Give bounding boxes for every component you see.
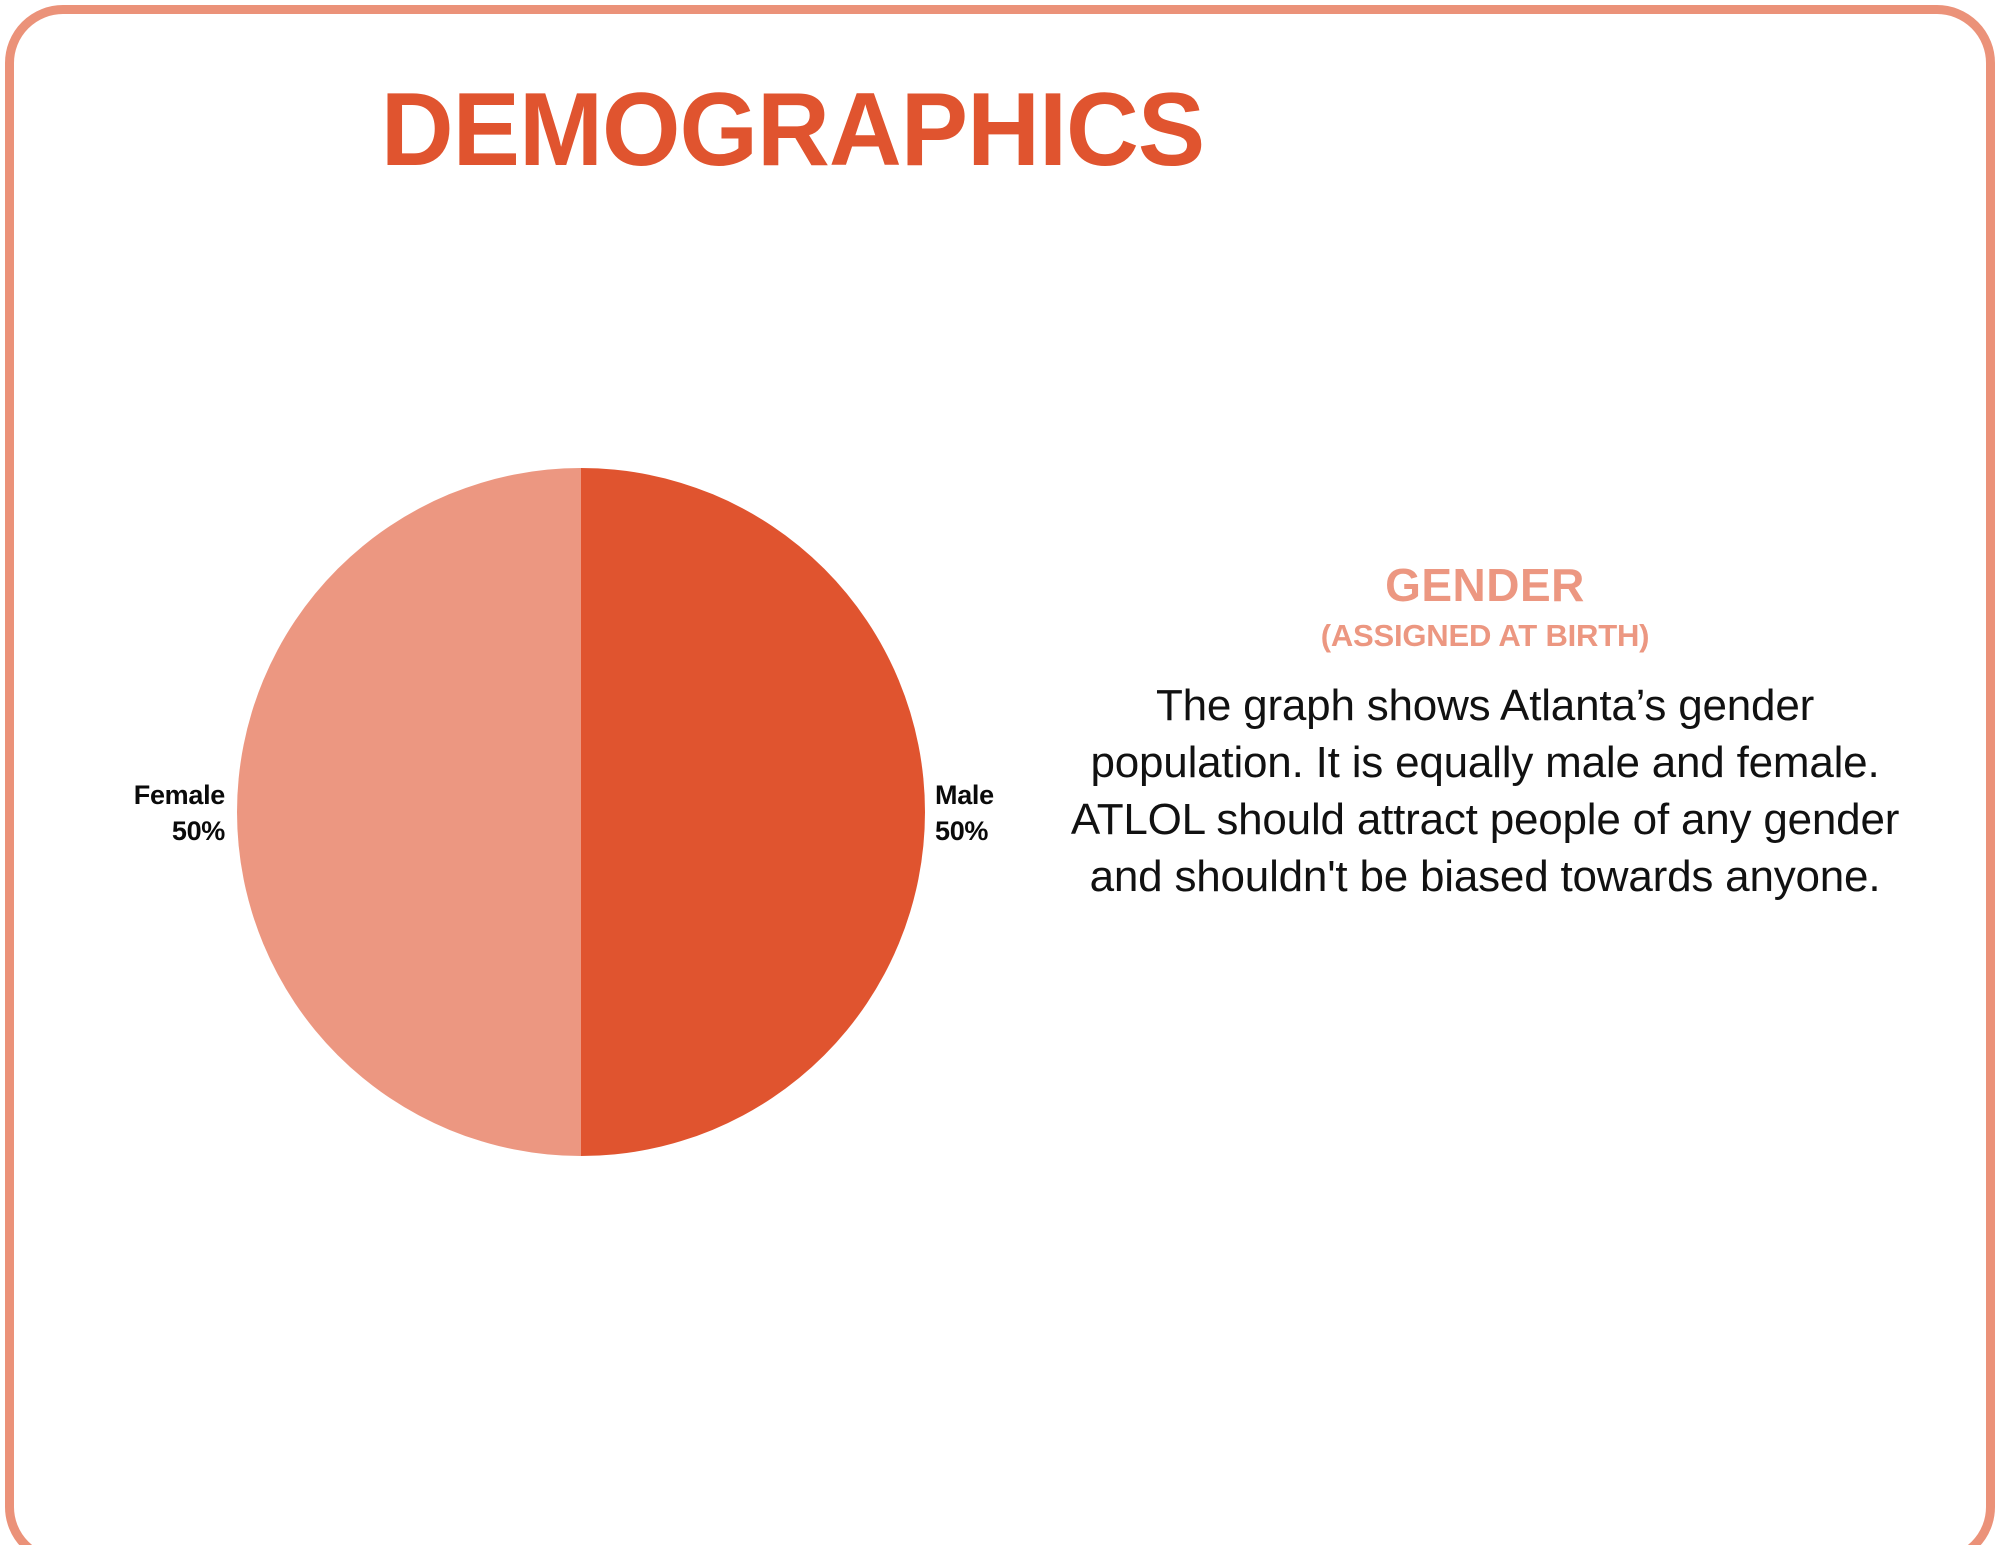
pie-label-female-name: Female bbox=[0, 778, 225, 814]
page-title: DEMOGRAPHICS bbox=[24, 78, 1561, 182]
pie-slice-female[interactable] bbox=[237, 468, 581, 1156]
pie-label-female: Female 50% bbox=[0, 778, 225, 849]
gender-pie-chart bbox=[237, 468, 925, 1156]
info-heading: GENDER bbox=[1025, 560, 1945, 611]
pie-graphic bbox=[237, 468, 925, 1156]
info-body-text: The graph shows Atlanta’s gender populat… bbox=[1059, 677, 1911, 906]
info-subheading: (ASSIGNED AT BIRTH) bbox=[1025, 619, 1945, 653]
slide-canvas: DEMOGRAPHICS Female 50% Male 50% GENDER … bbox=[0, 0, 2000, 1545]
info-column: GENDER (ASSIGNED AT BIRTH) The graph sho… bbox=[1025, 560, 1945, 905]
pie-slice-male[interactable] bbox=[581, 468, 925, 1156]
pie-label-female-value: 50% bbox=[0, 814, 225, 850]
